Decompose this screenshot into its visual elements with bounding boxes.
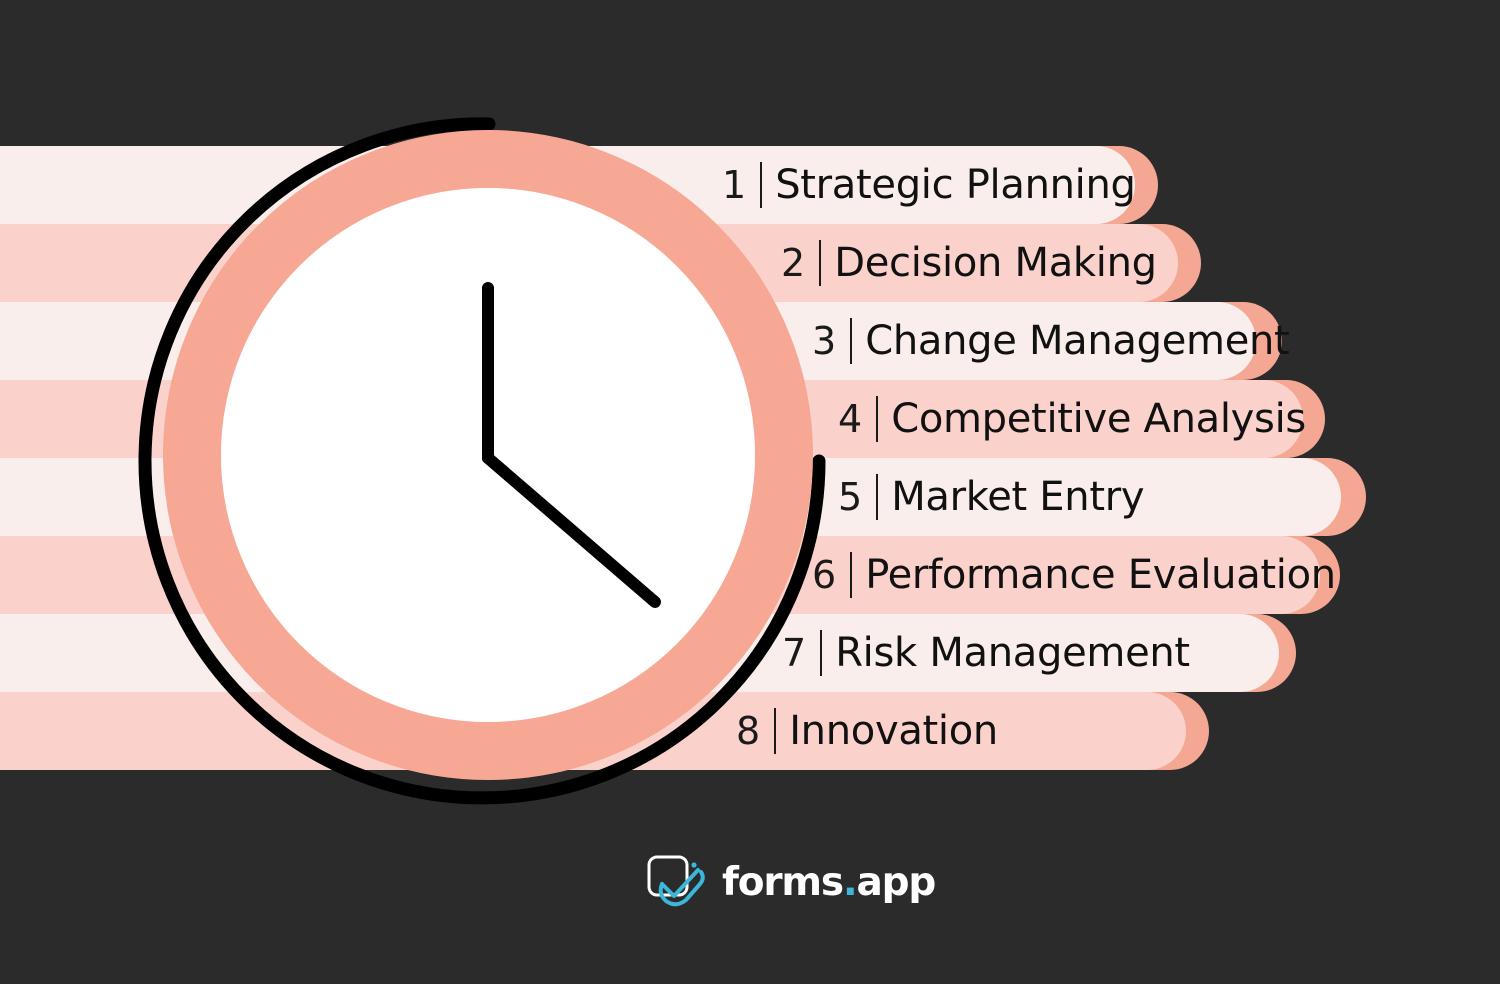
list-item-number: 4 <box>838 400 862 438</box>
list-item-content: 7Risk Management <box>782 614 1190 692</box>
forms-app-logo[interactable]: forms.app <box>646 852 935 912</box>
list-item-label: Competitive Analysis <box>891 399 1306 439</box>
logo-word-dot: . <box>843 863 857 902</box>
list-item-content: 4Competitive Analysis <box>838 380 1306 458</box>
logo-word-forms: forms <box>722 863 843 902</box>
clock-illustration <box>140 108 840 808</box>
list-item-label: Market Entry <box>891 477 1144 517</box>
list-item-divider <box>876 474 878 520</box>
logo-wordmark: forms.app <box>722 863 935 902</box>
list-item-number: 5 <box>838 478 862 516</box>
logo-word-app: app <box>856 863 935 902</box>
list-item-content: 5Market Entry <box>838 458 1144 536</box>
list-item-divider <box>850 552 852 598</box>
list-item-label: Performance Evaluation <box>865 555 1336 595</box>
list-item-divider <box>876 396 878 442</box>
list-item-content: 3Change Management <box>812 302 1289 380</box>
list-item-content: 6Performance Evaluation <box>812 536 1336 614</box>
list-item-label: Change Management <box>865 321 1289 361</box>
list-item-label: Decision Making <box>834 243 1157 283</box>
infographic-canvas: 1Strategic Planning2Decision Making3Chan… <box>0 0 1500 984</box>
forms-app-checkmark-icon <box>646 854 708 910</box>
list-item-label: Risk Management <box>835 633 1190 673</box>
list-item-divider <box>850 318 852 364</box>
